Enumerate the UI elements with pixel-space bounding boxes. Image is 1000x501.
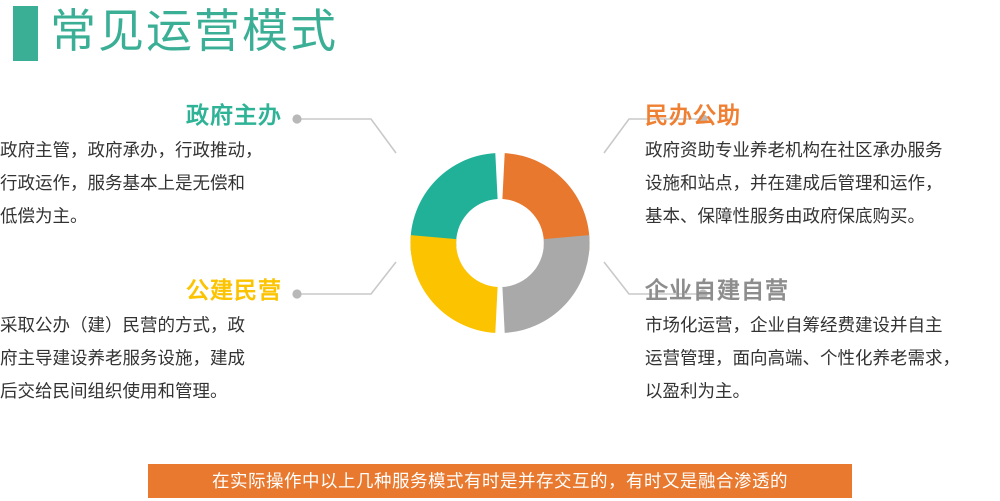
segment-body-line: 后交给民间组织使用和管理。 xyxy=(0,375,290,408)
donut-chart xyxy=(350,93,650,393)
donut-segment-public-built-private-run[interactable] xyxy=(410,235,497,333)
segment-body-line: 政府主管，政府承办，行政推动， xyxy=(0,134,290,167)
segment-body-line: 低偿为主。 xyxy=(0,200,290,233)
segment-body-line: 市场化运营，企业自筹经费建设并自主 xyxy=(645,309,995,342)
footer-banner: 在实际操作中以上几种服务模式有时是并存交互的，有时又是融合渗透的 xyxy=(148,464,852,498)
segment-body-line: 政府资助专业养老机构在社区承办服务 xyxy=(645,134,985,167)
segment-body-enterprise-self-run: 市场化运营，企业自筹经费建设并自主 运营管理，面向高端、个性化养老需求， 以盈利… xyxy=(645,309,995,408)
segment-block-government: 政府主办 政府主管，政府承办，行政推动， 行政运作，服务基本上是无偿和 低偿为主… xyxy=(0,100,290,233)
segment-body-line: 行政运作，服务基本上是无偿和 xyxy=(0,167,290,200)
segment-body-line: 运营管理，面向高端、个性化养老需求， xyxy=(645,342,995,375)
segment-block-enterprise-self-run: 企业自建自营 市场化运营，企业自筹经费建设并自主 运营管理，面向高端、个性化养老… xyxy=(645,275,995,408)
connector-dot-bottom-left xyxy=(292,289,301,298)
page-header: 常见运营模式 xyxy=(0,0,1000,72)
segment-body-line: 府主导建设养老服务设施，建成 xyxy=(0,342,290,375)
title-accent-bar xyxy=(13,6,38,61)
connector-dot-top-left xyxy=(292,114,301,123)
segment-body-public-built-private-run: 采取公办（建）民营的方式，政 府主导建设养老服务设施，建成 后交给民间组织使用和… xyxy=(0,309,290,408)
segment-body-private-public-aid: 政府资助专业养老机构在社区承办服务 设施和站点，并在建成后管理和运作， 基本、保… xyxy=(645,134,985,233)
segment-body-line: 设施和站点，并在建成后管理和运作， xyxy=(645,167,985,200)
segment-body-government: 政府主管，政府承办，行政推动， 行政运作，服务基本上是无偿和 低偿为主。 xyxy=(0,134,290,233)
segment-block-public-built-private-run: 公建民营 采取公办（建）民营的方式，政 府主导建设养老服务设施，建成 后交给民间… xyxy=(0,275,290,408)
segment-block-private-public-aid: 民办公助 政府资助专业养老机构在社区承办服务 设施和站点，并在建成后管理和运作，… xyxy=(645,100,985,233)
segment-body-line: 基本、保障性服务由政府保底购买。 xyxy=(645,200,985,233)
donut-svg xyxy=(350,93,650,393)
segment-heading-government: 政府主办 xyxy=(0,100,290,130)
donut-segment-enterprise-self-run[interactable] xyxy=(502,235,589,333)
page-title: 常见运营模式 xyxy=(50,0,338,64)
segment-body-line: 采取公办（建）民营的方式，政 xyxy=(0,309,290,342)
segment-heading-enterprise-self-run: 企业自建自营 xyxy=(645,275,995,305)
segment-body-line: 以盈利为主。 xyxy=(645,375,995,408)
segment-heading-private-public-aid: 民办公助 xyxy=(645,100,985,130)
segment-heading-public-built-private-run: 公建民营 xyxy=(0,275,290,305)
